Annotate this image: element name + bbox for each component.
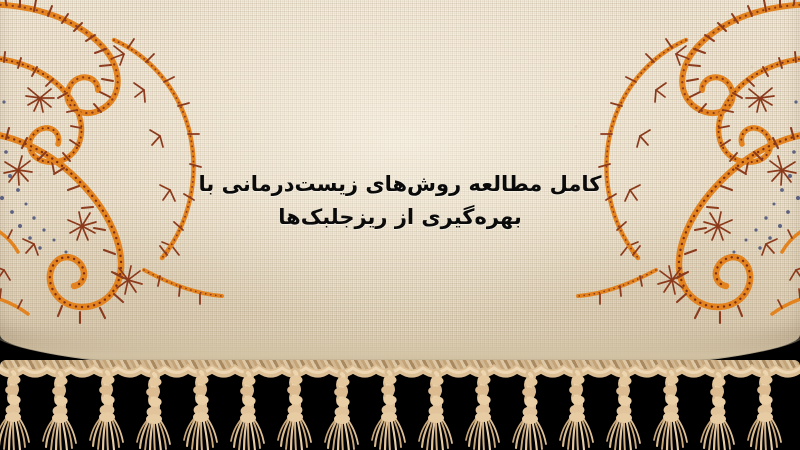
tassel-fringe xyxy=(0,364,800,450)
title-line-1: کامل مطالعه روش‌های زیست‌درمانی با xyxy=(0,168,800,201)
tassel-group xyxy=(0,372,781,450)
slide-title: کامل مطالعه روش‌های زیست‌درمانی با بهره‌… xyxy=(0,168,800,234)
slide-canvas: کامل مطالعه روش‌های زیست‌درمانی با بهره‌… xyxy=(0,0,800,450)
title-line-2: بهره‌گیری از ریزجلبک‌ها xyxy=(0,201,800,234)
